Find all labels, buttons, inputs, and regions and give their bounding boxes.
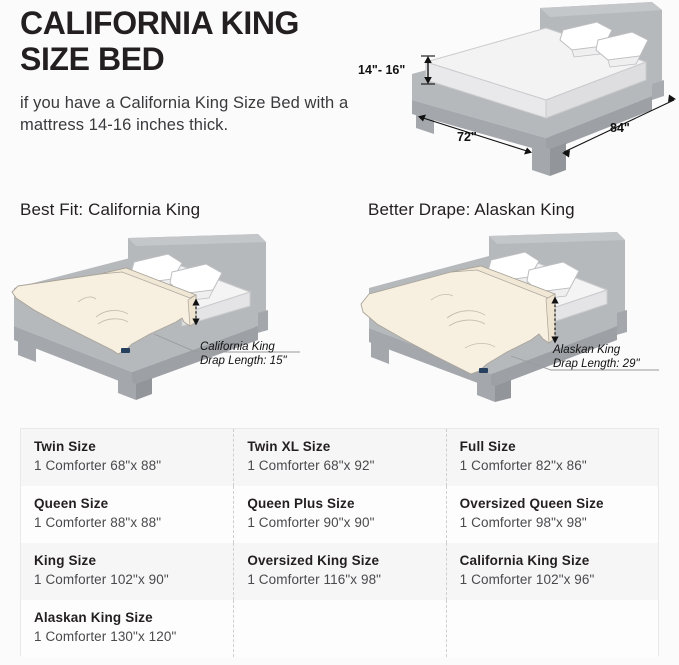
size-detail: 1 Comforter 90"x 90" — [247, 513, 445, 533]
left-anno-line2: Drap Length: 15" — [200, 355, 287, 367]
california-king-bed-figure: California King Drap Length: 15" — [0, 222, 340, 402]
comparison-section: Best Fit: California King Better Drape: … — [0, 190, 679, 405]
table-cell: King Size 1 Comforter 102"x 90" — [21, 543, 233, 600]
width-dimension-label: 72" — [457, 130, 477, 144]
thickness-dimension-label: 14"- 16" — [358, 63, 405, 77]
size-detail: 1 Comforter 102"x 96" — [460, 570, 658, 590]
comforter-size-table: Twin Size 1 Comforter 68"x 88" Twin XL S… — [20, 428, 659, 656]
bed-dimension-svg: 14"- 16" 72" 84" — [350, 0, 679, 185]
table-cell: Twin XL Size 1 Comforter 68"x 92" — [233, 429, 445, 486]
right-column-heading: Better Drape: Alaskan King — [368, 200, 575, 220]
table-cell: Oversized Queen Size 1 Comforter 98"x 98… — [446, 486, 658, 543]
table-cell: Oversized King Size 1 Comforter 116"x 98… — [233, 543, 445, 600]
table-cell: Queen Plus Size 1 Comforter 90"x 90" — [233, 486, 445, 543]
hero-bed-diagram: 14"- 16" 72" 84" — [350, 0, 679, 185]
size-name: Queen Plus Size — [247, 495, 445, 513]
size-name: Twin Size — [34, 438, 233, 456]
table-row: Queen Size 1 Comforter 88"x 88" Queen Pl… — [21, 486, 658, 543]
size-name: King Size — [34, 552, 233, 570]
size-detail: 1 Comforter 88"x 88" — [34, 513, 233, 533]
alaskan-king-bed-figure: Alaskan King Drap Length: 29" — [339, 222, 679, 402]
size-name: California King Size — [460, 552, 658, 570]
size-name: Twin XL Size — [247, 438, 445, 456]
table-row: Twin Size 1 Comforter 68"x 88" Twin XL S… — [21, 429, 658, 486]
size-detail: 1 Comforter 68"x 88" — [34, 456, 233, 476]
table-cell: California King Size 1 Comforter 102"x 9… — [446, 543, 658, 600]
table-row: Alaskan King Size 1 Comforter 130"x 120" — [21, 600, 658, 657]
table-cell: Twin Size 1 Comforter 68"x 88" — [21, 429, 233, 486]
right-anno-line2: Drap Length: 29" — [553, 358, 640, 370]
hero-section: CALIFORNIA KING SIZE BED if you have a C… — [0, 0, 679, 190]
size-detail: 1 Comforter 116"x 98" — [247, 570, 445, 590]
size-name: Oversized King Size — [247, 552, 445, 570]
size-detail: 1 Comforter 98"x 98" — [460, 513, 658, 533]
size-detail: 1 Comforter 82"x 86" — [460, 456, 658, 476]
alaskan-king-svg: Alaskan King Drap Length: 29" — [339, 222, 679, 402]
page-title: CALIFORNIA KING SIZE BED — [20, 6, 350, 78]
size-name: Oversized Queen Size — [460, 495, 658, 513]
table-cell: Queen Size 1 Comforter 88"x 88" — [21, 486, 233, 543]
size-name: Alaskan King Size — [34, 609, 233, 627]
california-king-svg: California King Drap Length: 15" — [0, 222, 340, 402]
size-detail: 1 Comforter 102"x 90" — [34, 570, 233, 590]
right-anno-line1: Alaskan King — [552, 344, 621, 356]
table-row: King Size 1 Comforter 102"x 90" Oversize… — [21, 543, 658, 600]
left-anno-line1: California King — [200, 341, 275, 353]
left-column-heading: Best Fit: California King — [20, 200, 200, 220]
page-subtitle: if you have a California King Size Bed w… — [20, 92, 350, 138]
table-cell-empty — [233, 600, 445, 657]
length-dimension-label: 84" — [610, 121, 630, 135]
size-name: Full Size — [460, 438, 658, 456]
size-detail: 1 Comforter 68"x 92" — [247, 456, 445, 476]
hero-text-block: CALIFORNIA KING SIZE BED if you have a C… — [20, 6, 350, 137]
table-cell: Full Size 1 Comforter 82"x 86" — [446, 429, 658, 486]
infographic-page: CALIFORNIA KING SIZE BED if you have a C… — [0, 0, 679, 665]
table-cell-empty — [446, 600, 658, 657]
size-detail: 1 Comforter 130"x 120" — [34, 627, 233, 647]
size-name: Queen Size — [34, 495, 233, 513]
table-cell: Alaskan King Size 1 Comforter 130"x 120" — [21, 600, 233, 657]
